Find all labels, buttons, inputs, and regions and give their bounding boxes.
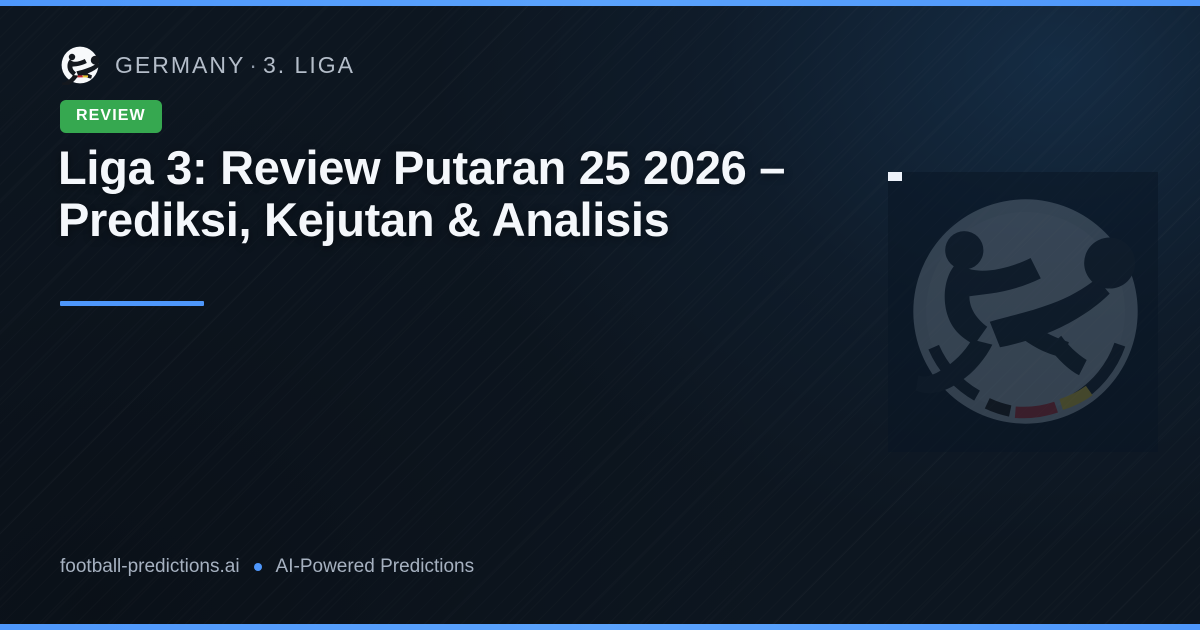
germany-3-liga-crest-watermark-icon [898,184,1153,439]
site-name: football-predictions.ai [60,556,240,578]
germany-3-liga-crest-icon [60,45,100,85]
tagline: AI-Powered Predictions [276,556,475,578]
status-badge: REVIEW [60,100,162,133]
footer: football-predictions.ai AI-Powered Predi… [60,556,474,578]
country-label: GERMANY [115,52,245,78]
watermark-crest-panel [888,172,1158,452]
page-title: Liga 3: Review Putaran 25 2026 – Prediks… [58,142,918,246]
top-accent-bar [0,0,1200,6]
league-label: 3. LIGA [263,52,355,78]
og-share-card: GERMANY·3. LIGA REVIEW Liga 3: Review Pu… [0,0,1200,630]
league-header: GERMANY·3. LIGA [60,45,355,85]
bottom-accent-bar [0,624,1200,630]
blue-dot-icon [254,563,262,571]
title-underline-divider [60,301,204,306]
header-separator: · [245,52,263,78]
league-title-text: GERMANY·3. LIGA [115,52,355,79]
